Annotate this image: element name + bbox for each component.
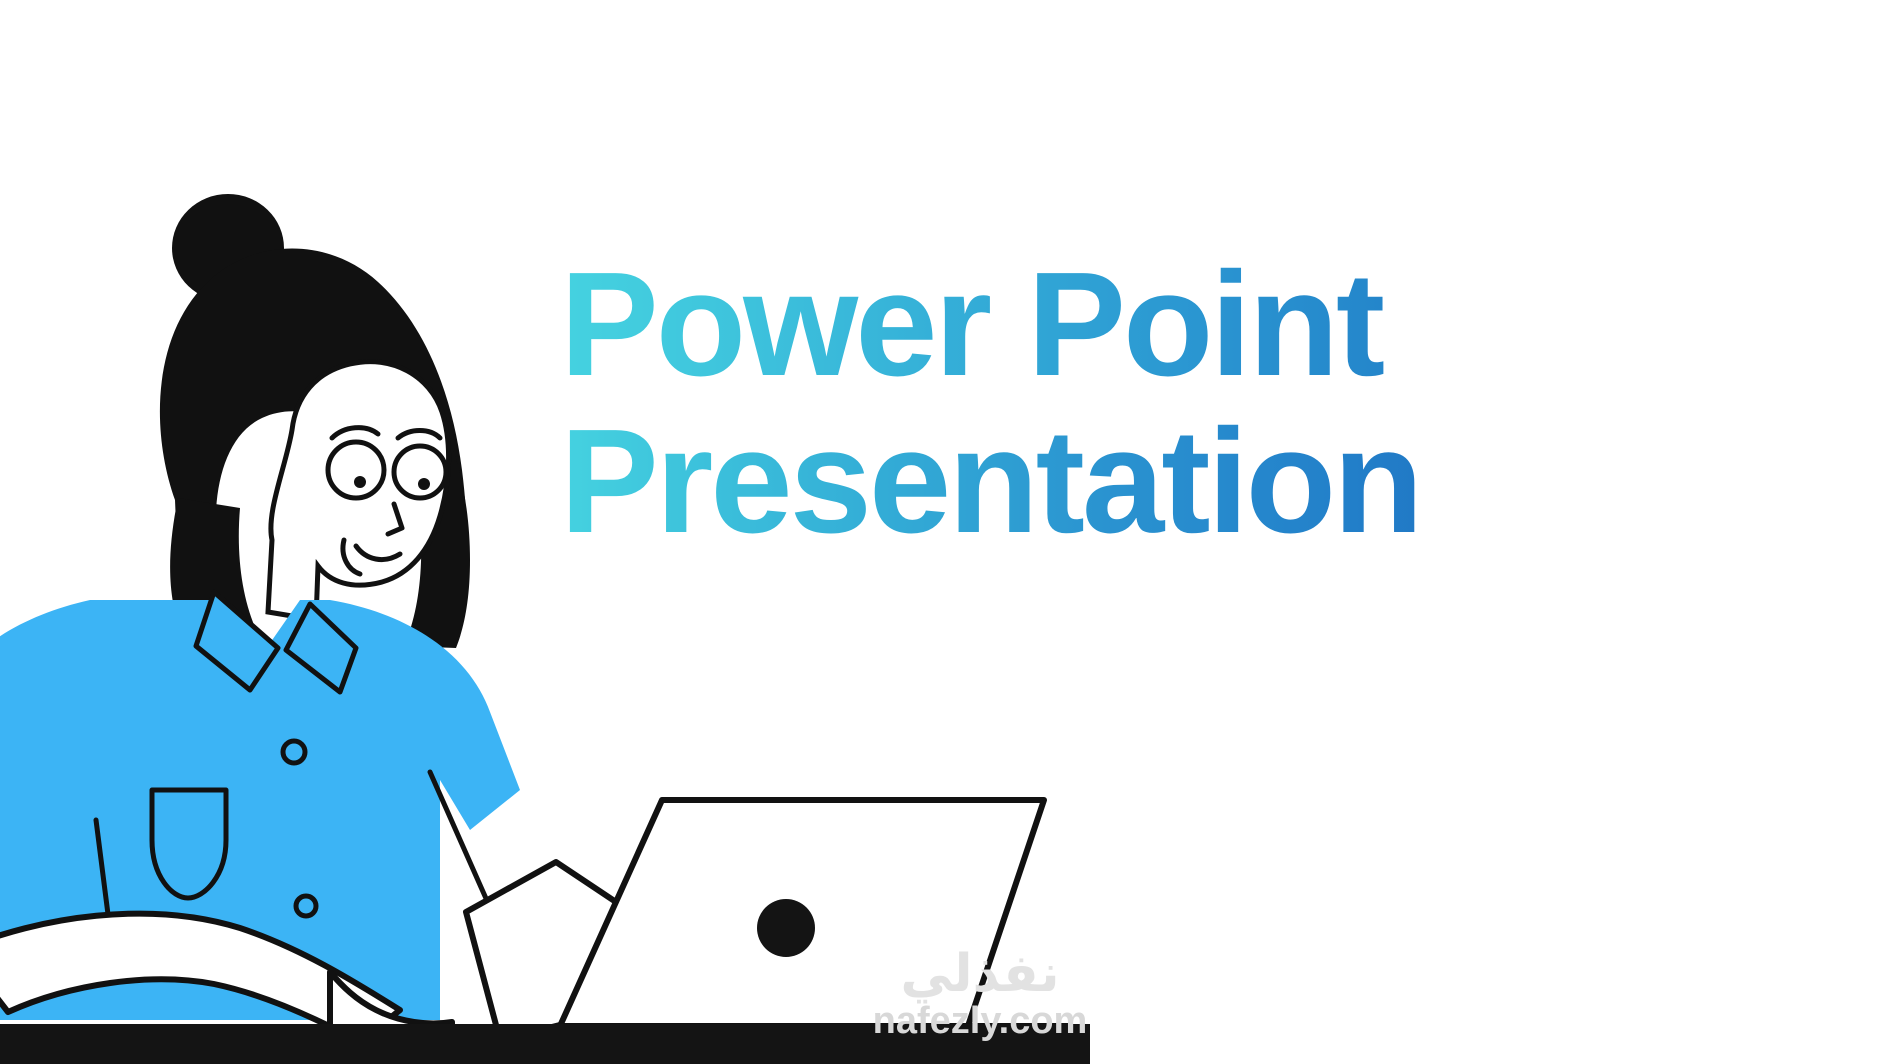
shirt-collar-left	[196, 592, 278, 690]
cheek-line	[343, 540, 360, 574]
hair-group	[160, 194, 470, 648]
eye-right	[394, 446, 446, 498]
arm-left	[0, 914, 400, 1042]
arms-group	[0, 862, 640, 1044]
shirt-collar-right	[286, 604, 356, 692]
watermark-domain-text: nafezly.com	[840, 1002, 1120, 1040]
sleeve-seam-right	[430, 772, 492, 912]
face	[268, 362, 449, 620]
shirt-button	[283, 741, 305, 763]
eye-right-pupil	[418, 478, 430, 490]
eyebrow-right	[398, 431, 440, 439]
title-line-2: Presentation	[560, 409, 1800, 554]
sleeve-seam-left	[96, 820, 110, 930]
hair	[160, 248, 467, 620]
watermark: نفذلي nafezly.com	[840, 948, 1120, 1040]
shirt-button-lower	[296, 896, 316, 916]
page-title: Power Point Presentation	[560, 252, 1800, 554]
nose	[388, 504, 402, 534]
mouth	[356, 546, 400, 560]
watermark-arabic-text: نفذلي	[840, 948, 1120, 1000]
hair-left-sweep	[170, 498, 258, 634]
hair-bun-icon	[172, 194, 284, 302]
presentation-slide: Power Point Presentation نفذلي nafezly.c…	[0, 0, 1904, 1064]
hair-right-side	[392, 400, 470, 648]
eye-left	[328, 442, 384, 498]
arm-right	[466, 862, 640, 1040]
eyebrow-left	[332, 428, 378, 438]
face-group	[268, 362, 449, 620]
eye-left-pupil	[354, 476, 366, 488]
shirt-body	[0, 600, 520, 1020]
shirt-pocket	[152, 790, 226, 898]
shirt-group	[0, 592, 520, 1020]
title-line-1: Power Point	[560, 252, 1800, 397]
laptop-logo-icon	[757, 899, 815, 957]
